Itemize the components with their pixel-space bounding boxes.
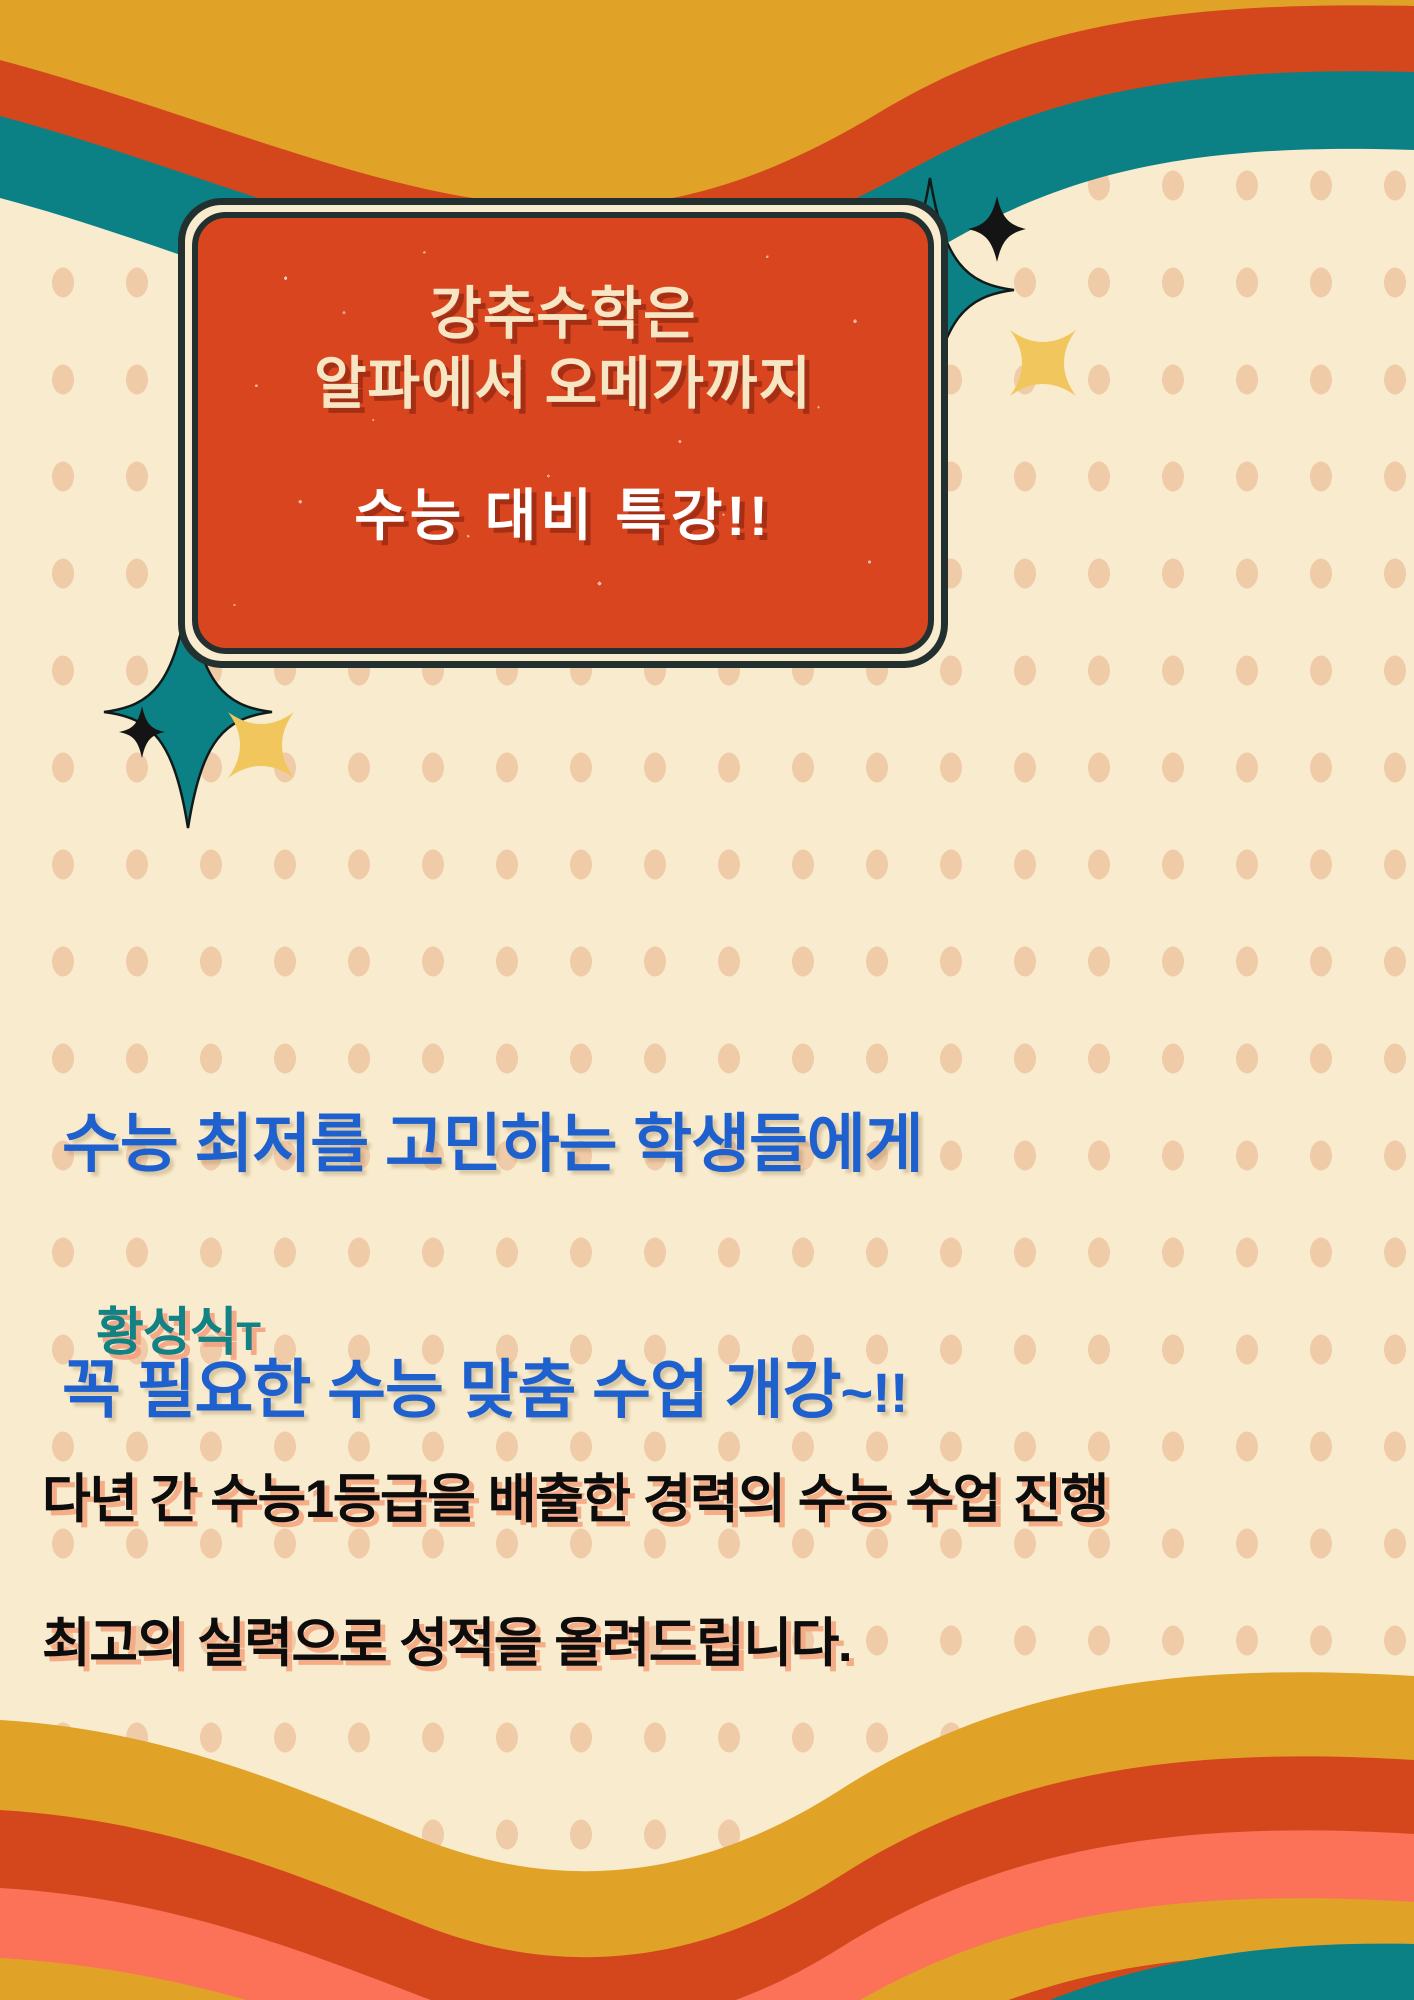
- subtitle-line-1: 수능 최저를 고민하는 학생들에게: [62, 1104, 1072, 1186]
- teacher-name-block: 황성식T: [96, 1290, 260, 1365]
- teacher-name: 황성식: [96, 1304, 237, 1362]
- title-card: 강추수학은 알파에서 오메가까지 수능 대비 특강!!: [178, 198, 948, 668]
- card-headline: 강추수학은 알파에서 오메가까지: [314, 280, 812, 419]
- poster-canvas: 강추수학은 알파에서 오메가까지 수능 대비 특강!! 수능 최저를 고민하는 …: [0, 0, 1414, 2000]
- gold-diamond-bottom-left-icon: [228, 712, 294, 778]
- body-line-2: 최고의 실력으로 성적을 올려드립니다.: [42, 1608, 1142, 1680]
- card-subhead: 수능 대비 특강!!: [354, 471, 772, 552]
- body-copy-block: 다년 간 수능1등급을 배출한 경력의 수능 수업 진행 최고의 실력으로 성적…: [42, 1392, 1142, 1752]
- gold-diamond-top-right-icon: [1010, 330, 1076, 396]
- body-line-1: 다년 간 수능1등급을 배출한 경력의 수능 수업 진행: [42, 1464, 1142, 1536]
- teacher-title-mark: T: [237, 1315, 260, 1359]
- title-card-text-group: 강추수학은 알파에서 오메가까지 수능 대비 특강!!: [198, 218, 928, 648]
- title-card-inner-panel: 강추수학은 알파에서 오메가까지 수능 대비 특강!!: [192, 212, 934, 654]
